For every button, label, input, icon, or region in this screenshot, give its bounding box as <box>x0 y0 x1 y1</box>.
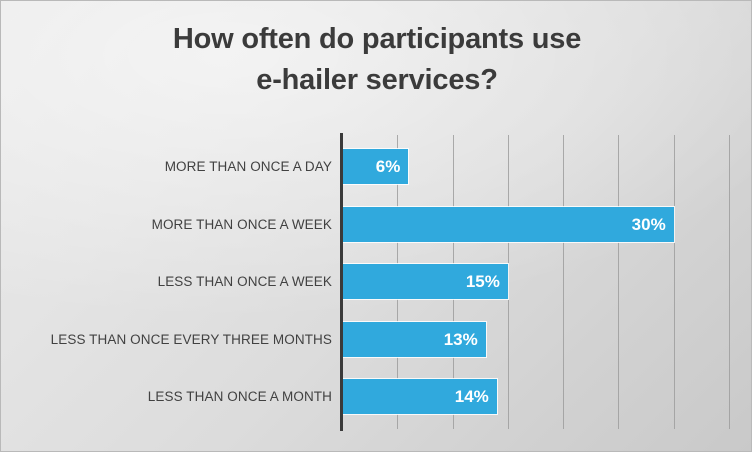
bar[interactable]: 6% <box>342 149 408 184</box>
bar-row[interactable]: 15% <box>342 264 729 299</box>
bar-row[interactable]: 13% <box>342 322 729 357</box>
category-label: MORE THAN ONCE A DAY <box>1 149 332 184</box>
bar-value-label: 13% <box>444 322 478 357</box>
category-axis-labels: MORE THAN ONCE A DAYMORE THAN ONCE A WEE… <box>1 135 332 429</box>
bar-value-label: 14% <box>455 379 489 414</box>
bar[interactable]: 30% <box>342 207 674 242</box>
bars-layer: 6%30%15%13%14% <box>342 135 729 429</box>
bar[interactable]: 14% <box>342 379 497 414</box>
chart-card: How often do participants use e-hailer s… <box>0 0 752 452</box>
bar-value-label: 15% <box>466 264 500 299</box>
category-label: LESS THAN ONCE A MONTH <box>1 379 332 414</box>
bar[interactable]: 15% <box>342 264 508 299</box>
plot-area: 6%30%15%13%14% <box>342 135 729 429</box>
value-axis-line <box>340 133 343 431</box>
bar-value-label: 6% <box>376 149 401 184</box>
chart-title: How often do participants use e-hailer s… <box>1 19 752 101</box>
category-label: LESS THAN ONCE A WEEK <box>1 264 332 299</box>
category-label: MORE THAN ONCE A WEEK <box>1 207 332 242</box>
category-label: LESS THAN ONCE EVERY THREE MONTHS <box>1 322 332 357</box>
bar-row[interactable]: 6% <box>342 149 729 184</box>
bar-value-label: 30% <box>632 207 666 242</box>
bar[interactable]: 13% <box>342 322 486 357</box>
bar-row[interactable]: 30% <box>342 207 729 242</box>
bar-row[interactable]: 14% <box>342 379 729 414</box>
gridline <box>729 135 730 429</box>
